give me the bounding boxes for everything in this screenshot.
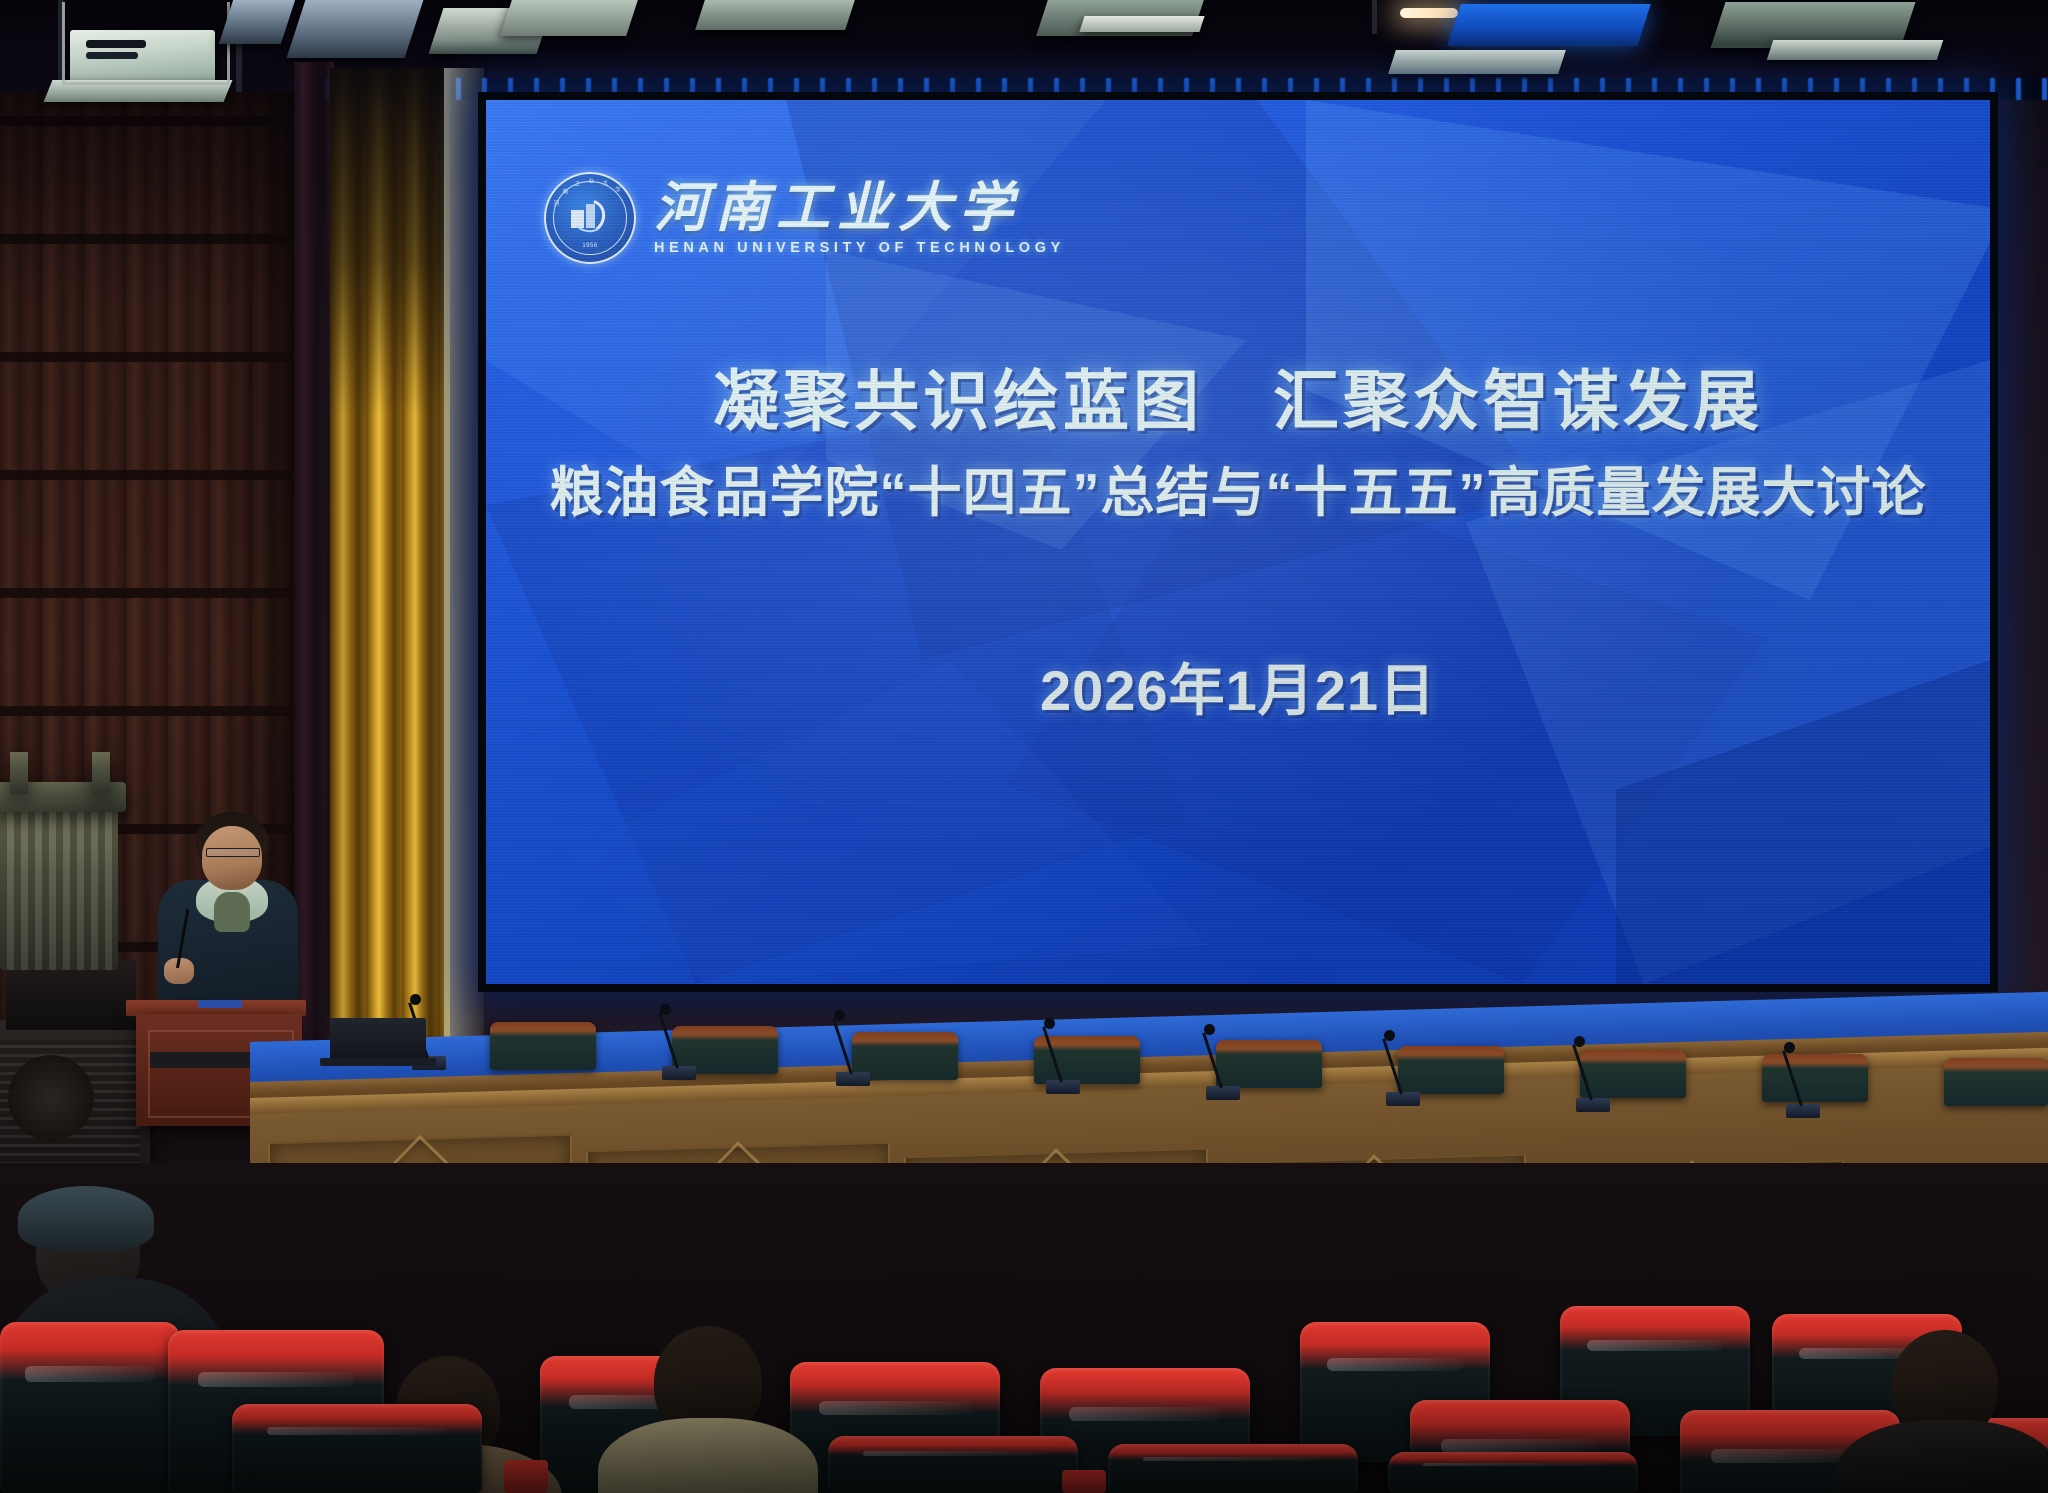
audience-seat-f6 — [1388, 1452, 1638, 1493]
dais-mic-head-4 — [1044, 1018, 1055, 1029]
university-logo-lockup: 河 南 工 业 大 学 1956 河南工业大学 HENAN UNIVERSITY — [544, 172, 1065, 264]
dais-mic-base-6 — [1386, 1092, 1420, 1106]
dais-mic-head-6 — [1384, 1030, 1395, 1041]
audience-seat-arm-1 — [504, 1460, 548, 1493]
stage-light-5 — [695, 0, 855, 30]
dais-mic-base-2 — [662, 1066, 696, 1080]
stage-light-7-plate — [1767, 40, 1943, 60]
audience-seat-f1 — [0, 1322, 180, 1493]
dais-mic-base-8 — [1786, 1104, 1820, 1118]
dais-mic-head-7 — [1574, 1036, 1585, 1047]
dais-mic-head-8 — [1784, 1042, 1795, 1053]
university-name-cn: 河南工业大学 — [654, 181, 1065, 235]
bronze-handle-left — [10, 752, 28, 794]
university-seal-icon: 河 南 工 业 大 学 1956 — [544, 172, 636, 264]
dais-mic-base-3 — [836, 1072, 870, 1086]
slide-date: 2026年1月21日 — [486, 646, 1990, 727]
dais-mic-base-5 — [1206, 1086, 1240, 1100]
bronze-vessel — [0, 800, 118, 970]
audience-seat-f3 — [232, 1404, 482, 1493]
dais-chair-7 — [1580, 1050, 1686, 1098]
dais-chair-6 — [1398, 1046, 1504, 1094]
dais-mic-head-5 — [1204, 1024, 1215, 1035]
speaker-shirt — [214, 892, 250, 932]
dais-mic-head-3 — [834, 1010, 845, 1021]
dais-chair-8 — [1762, 1054, 1868, 1102]
speaker-glasses-icon — [206, 848, 260, 857]
stage-light-blue-plate — [1388, 50, 1566, 74]
slide-title-sub: 粮油食品学院“十四五”总结与“十五五”高质量发展大讨论 — [486, 448, 1990, 527]
speaker-head — [202, 826, 262, 890]
dais-mic-base-7 — [1576, 1098, 1610, 1112]
dais-mic-head-2 — [660, 1004, 671, 1015]
projector-vent — [86, 52, 138, 59]
dais-mic-head-1 — [410, 994, 421, 1005]
bronze-handle-right — [92, 752, 110, 794]
plinth-medallion — [8, 1055, 94, 1141]
audience-seat-f4 — [828, 1436, 1078, 1493]
curtain-top-shadow — [330, 68, 450, 668]
stage-light-blue — [1447, 4, 1651, 46]
podium-papers — [198, 1000, 242, 1008]
dais-chair-1 — [490, 1022, 596, 1070]
bronze-stand — [6, 960, 136, 1030]
stage-light-6-lens — [1079, 16, 1204, 32]
spotlight-hot — [1400, 8, 1458, 18]
curtain-dark-edge — [294, 62, 334, 1062]
led-screen: 河 南 工 业 大 学 1956 河南工业大学 HENAN UNIVERSITY — [486, 100, 1990, 984]
audience-person-hair-4 — [18, 1186, 154, 1250]
stage-light-2 — [287, 0, 424, 58]
projector-cable — [86, 40, 146, 48]
audience-seat-arm-2 — [1062, 1470, 1106, 1493]
dais-chair-9 — [1944, 1058, 2048, 1106]
laptop — [330, 1018, 426, 1060]
seal-emblem-icon — [569, 196, 611, 236]
dais-mic-base-4 — [1046, 1080, 1080, 1094]
seal-year: 1956 — [546, 243, 634, 249]
audience-seat-f5 — [1108, 1444, 1358, 1493]
university-name-en: HENAN UNIVERSITY OF TECHNOLOGY — [654, 240, 1065, 256]
slide-title-main: 凝聚共识绘蓝图 汇聚众智谋发展 — [486, 348, 1990, 444]
auditorium-scene: 河 南 工 业 大 学 1956 河南工业大学 HENAN UNIVERSITY — [0, 0, 2048, 1493]
laptop-base — [320, 1058, 436, 1066]
dais-chair-5 — [1216, 1040, 1322, 1088]
light-hanger-a — [1372, 0, 1377, 34]
stage-light-4 — [500, 0, 638, 36]
